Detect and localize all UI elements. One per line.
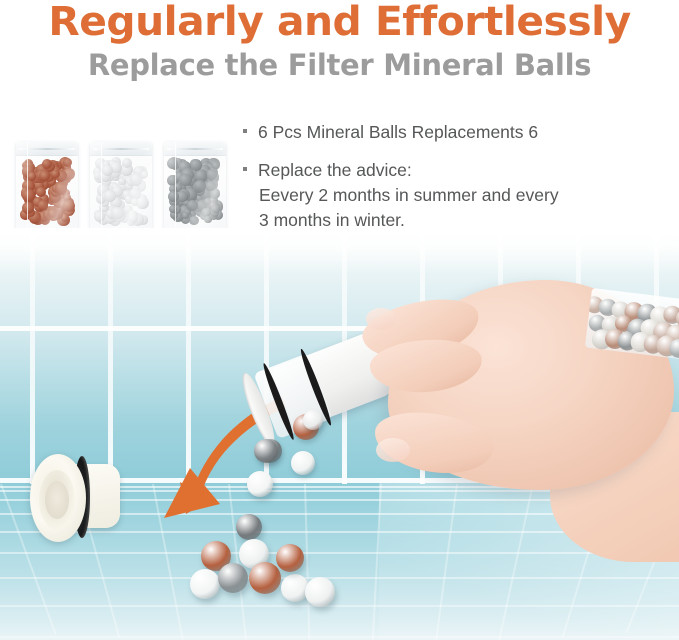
mineral-ball <box>254 439 278 463</box>
mineral-ball <box>236 514 262 540</box>
mineral-ball <box>247 471 273 497</box>
fingernail <box>376 438 410 462</box>
bag-zip-seal <box>164 142 226 156</box>
mineral-ball <box>276 544 304 572</box>
square-bullet-icon <box>243 167 247 171</box>
mineral-ball <box>211 205 220 214</box>
mineral-ball <box>305 577 335 607</box>
bag-fold-line <box>27 142 28 232</box>
filter-cap-face <box>30 454 86 542</box>
mineral-ball <box>42 159 52 169</box>
bag-fold-line <box>101 142 102 232</box>
mineral-ball <box>190 569 220 599</box>
photo-top-fade <box>0 228 679 274</box>
mineral-ball <box>194 180 207 193</box>
copper-mineral-balls-bag <box>16 142 78 232</box>
filter-cap <box>30 450 126 546</box>
mineral-ball <box>128 213 138 223</box>
bathroom-scene <box>0 228 679 640</box>
page-headline: Regularly and Effortlessly <box>0 0 679 44</box>
mineral-ball <box>141 171 148 178</box>
mineral-ball <box>63 200 75 212</box>
list-item: 6 Pcs Mineral Balls Replacements 6 <box>243 120 673 145</box>
mineral-ball <box>111 207 123 219</box>
mineral-ball <box>48 209 57 218</box>
mineral-ball <box>55 182 68 195</box>
mineral-ball <box>22 189 35 202</box>
bag-zip-seal <box>90 142 152 156</box>
mineral-ball <box>206 169 217 180</box>
gray-mineral-balls-bag <box>164 142 226 232</box>
bullet-line: Replace the advice: <box>258 158 673 183</box>
mineral-ball <box>249 562 281 594</box>
bullet-line: 6 Pcs Mineral Balls Replacements 6 <box>258 120 673 145</box>
list-item: Replace the advice: Eevery 2 months in s… <box>243 158 673 233</box>
product-marketing-image: Regularly and Effortlessly Replace the F… <box>0 0 679 640</box>
white-mineral-balls-bag <box>90 142 152 232</box>
mineral-ball <box>182 212 189 219</box>
bullet-line: Eevery 2 months in summer and every <box>258 183 673 208</box>
square-bullet-icon <box>243 129 247 133</box>
mineral-ball <box>218 563 248 593</box>
mineral-ball <box>204 216 212 224</box>
mineral-ball <box>130 173 142 185</box>
mineral-ball <box>131 198 139 206</box>
filter-cap-center <box>45 481 69 519</box>
fingernail <box>366 308 396 330</box>
bag-fold-line <box>175 142 176 232</box>
mineral-ball <box>102 165 113 176</box>
mineral-ball <box>291 451 315 475</box>
mineral-ball <box>189 216 199 226</box>
page-subheadline: Replace the Filter Mineral Balls <box>0 48 679 82</box>
bag-zip-seal <box>16 142 78 156</box>
mineral-ball <box>94 211 105 222</box>
mineral-ball <box>303 410 323 430</box>
mineral-ball-bags-group <box>16 142 226 234</box>
mineral-ball <box>212 162 219 169</box>
mineral-ball <box>205 181 216 192</box>
